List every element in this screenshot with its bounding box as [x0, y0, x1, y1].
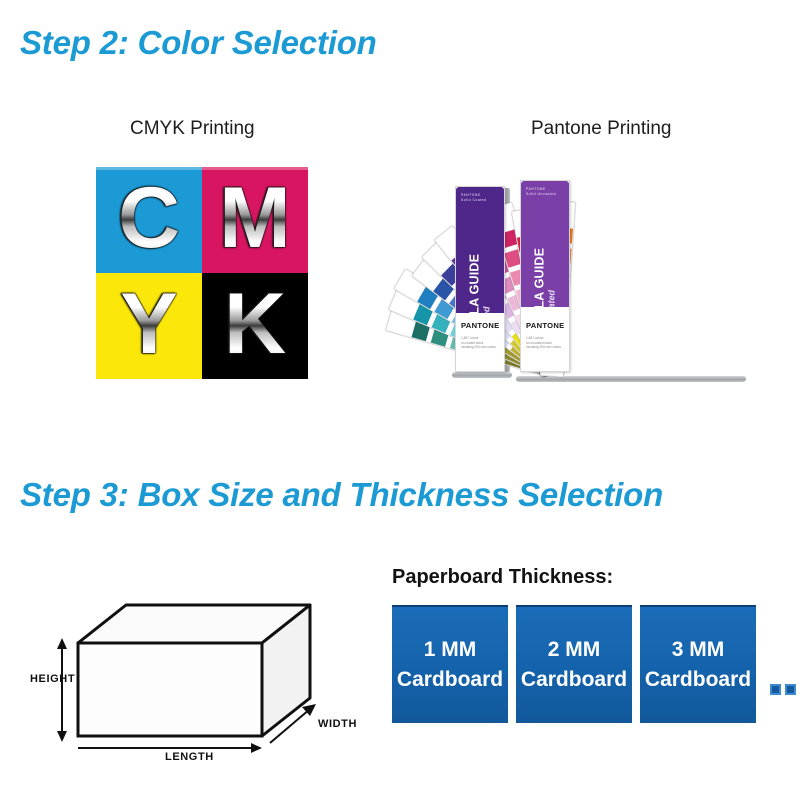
paperboard-thickness-block: Paperboard Thickness: 1 MM Cardboard 2 M…	[392, 566, 792, 741]
pantone-logo-coated: PANTONE	[461, 321, 499, 330]
height-arrow	[57, 638, 67, 742]
guide-fineprint-line: including 294 new colors	[461, 345, 499, 350]
guide-brand-area-uncoated: PANTONE 1,867 colors on uncoated stock i…	[521, 315, 569, 371]
guide-topmark-uncoated: PANTONE Solid Uncoated	[526, 187, 564, 198]
formula-guide-solid-coated: PANTONE Solid Coated FORMULA GUIDE Solid…	[455, 186, 505, 372]
guide-title-coated: FORMULA GUIDE	[469, 230, 482, 314]
cmyk-letter-y: Y	[120, 281, 177, 367]
formula-guide-solid-uncoated: PANTONE Solid Uncoated FORMULA GUIDE Sol…	[520, 180, 570, 372]
tile-material-label: Cardboard	[521, 665, 627, 695]
guide-subtitle-coated: Solid Coated	[482, 230, 492, 314]
tile-thickness-value: 1 MM	[424, 635, 477, 665]
guide-title-block-uncoated: FORMULA GUIDE Solid Uncoated	[534, 224, 557, 308]
ellipsis-dot	[785, 684, 796, 695]
box-front-face	[78, 643, 262, 736]
pantone-logo-uncoated: PANTONE	[526, 321, 564, 330]
cmyk-letter-m: M	[219, 175, 291, 261]
box-label-height: HEIGHT	[30, 673, 75, 685]
cmyk-cell-yellow: Y	[96, 273, 202, 379]
cmyk-letter-c: C	[118, 175, 180, 261]
box-dimension-diagram: HEIGHT LENGTH WIDTH	[30, 578, 370, 773]
more-options-ellipsis-icon[interactable]	[770, 684, 800, 695]
cmyk-grid: C M Y K	[96, 167, 308, 379]
cmyk-swatch-figure: C M Y K	[96, 167, 308, 379]
guide-topmark-sub: Solid Coated	[461, 198, 499, 203]
thickness-tile-1mm[interactable]: 1 MM Cardboard	[392, 605, 508, 723]
guide-subtitle-uncoated: Solid Uncoated	[547, 224, 557, 308]
box-diagram-svg	[30, 578, 370, 773]
cmyk-cell-cyan: C	[96, 167, 202, 273]
cmyk-letter-k: K	[224, 281, 286, 367]
box-label-length: LENGTH	[165, 751, 214, 763]
tile-material-label: Cardboard	[397, 665, 503, 695]
guide-fineprint-line: including 294 new colors	[526, 345, 564, 350]
box-label-width: WIDTH	[318, 718, 357, 730]
tile-material-label: Cardboard	[645, 665, 751, 695]
guide-title-uncoated: FORMULA GUIDE	[534, 224, 547, 308]
pantone-guide-figure: PANTONE Solid Coated FORMULA GUIDE Solid…	[448, 162, 758, 390]
step3-heading: Step 3: Box Size and Thickness Selection	[20, 476, 663, 514]
step2-heading: Step 2: Color Selection	[20, 24, 377, 62]
thickness-tile-2mm[interactable]: 2 MM Cardboard	[516, 605, 632, 723]
guide-cover-coated: PANTONE Solid Coated FORMULA GUIDE Solid…	[456, 187, 504, 313]
guide-topmark-sub: Solid Uncoated	[526, 192, 564, 197]
guide-cover-uncoated: PANTONE Solid Uncoated FORMULA GUIDE Sol…	[521, 181, 569, 307]
thickness-tile-row: 1 MM Cardboard 2 MM Cardboard 3 MM Cardb…	[392, 605, 800, 723]
thickness-tile-3mm[interactable]: 3 MM Cardboard	[640, 605, 756, 723]
guide-fineprint-uncoated: 1,867 colors on uncoated stock including…	[526, 336, 564, 350]
guide-brand-area-coated: PANTONE 1,867 colors on coated stock inc…	[456, 315, 504, 371]
guide-fineprint-coated: 1,867 colors on coated stock including 2…	[461, 336, 499, 350]
cmyk-cell-magenta: M	[202, 167, 308, 273]
poster-canvas: Step 2: Color Selection CMYK Printing Pa…	[0, 0, 800, 800]
cmyk-caption: CMYK Printing	[130, 118, 255, 140]
guide-title-block-coated: FORMULA GUIDE Solid Coated	[469, 230, 492, 314]
guide-topmark-coated: PANTONE Solid Coated	[461, 193, 499, 204]
tile-thickness-value: 3 MM	[672, 635, 725, 665]
tile-thickness-value: 2 MM	[548, 635, 601, 665]
cmyk-cell-black: K	[202, 273, 308, 379]
thickness-title: Paperboard Thickness:	[392, 566, 613, 589]
ellipsis-dot	[770, 684, 781, 695]
guide-stand-left	[452, 372, 512, 378]
fan-leaf	[540, 180, 749, 389]
pantone-color-fan	[540, 170, 758, 376]
